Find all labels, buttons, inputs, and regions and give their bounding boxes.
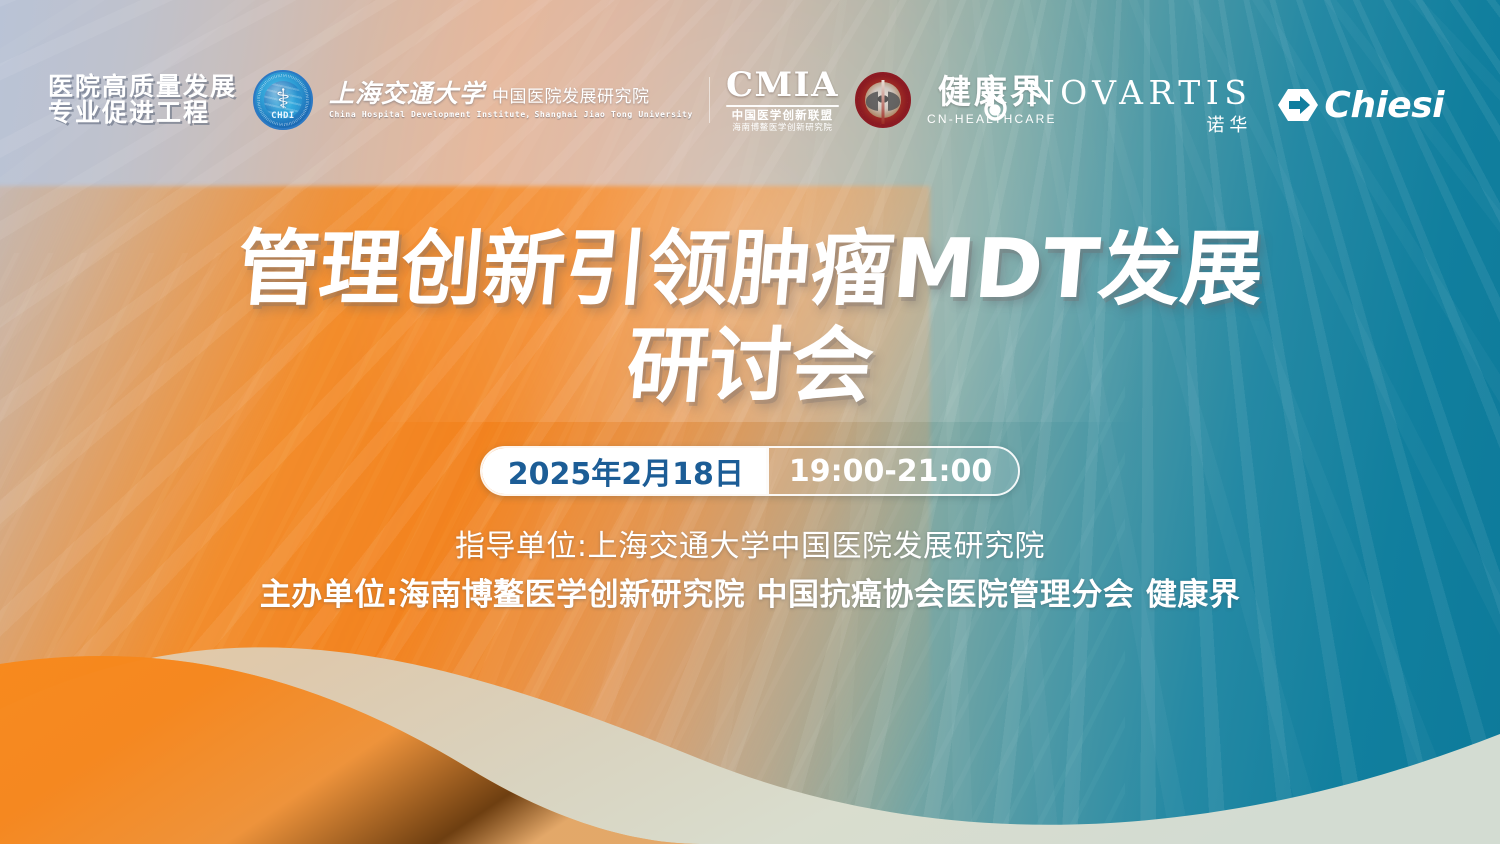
datetime-badge-wrapper: 2025年2月18日 19:00-21:00	[0, 446, 1500, 496]
pharma-logo-group: NOVARTIS 诺华 Chiesi	[978, 76, 1444, 134]
cmia-acronym: CMIA	[726, 68, 839, 104]
caduceus-icon: ⚕	[276, 86, 291, 113]
program-wordmark-logo: 医院高质量发展 专业促进工程	[48, 74, 237, 127]
host-unit-line: 主办单位:海南博鳌医学创新研究院 中国抗癌协会医院管理分会 健康界	[0, 571, 1500, 619]
cmia-institute-name: 海南博鳌医学创新研究院	[726, 123, 839, 132]
chdi-emblem-icon: ⚕ CHDI	[253, 70, 313, 130]
program-wordmark-line1: 医院高质量发展	[48, 74, 237, 100]
sjtu-english-name: China Hospital Development Institute，Sha…	[329, 111, 693, 120]
datetime-badge: 2025年2月18日 19:00-21:00	[480, 446, 1021, 496]
cmia-logo: CMIA 中国医学创新联盟 海南博鳌医学创新研究院	[726, 68, 839, 132]
chiesi-hexagon-arrow-icon	[1278, 88, 1318, 122]
organizer-logo-group: 医院高质量发展 专业促进工程 ⚕ CHDI 上海交通大学 中国医院发展研究院 C…	[48, 68, 1057, 132]
chiesi-wordmark: Chiesi	[1324, 85, 1444, 126]
cmia-rule-divider	[726, 105, 839, 107]
sponsor-logo-bar: 医院高质量发展 专业促进工程 ⚕ CHDI 上海交通大学 中国医院发展研究院 C…	[0, 72, 1500, 156]
chdi-acronym-label: CHDI	[255, 111, 311, 121]
novartis-chinese-name: 诺华	[1026, 116, 1253, 134]
caca-emblem-icon	[855, 72, 911, 128]
novartis-flame-icon	[978, 79, 1012, 123]
sjtu-university-name: 上海交通大学	[329, 80, 485, 108]
sjtu-logo: 上海交通大学 中国医院发展研究院 China Hospital Developm…	[329, 80, 693, 119]
novartis-logo: NOVARTIS 诺华	[978, 76, 1253, 134]
guidance-unit-line: 指导单位:上海交通大学中国医院发展研究院	[0, 524, 1500, 571]
caca-bird-icon	[866, 91, 900, 111]
cmia-chinese-name: 中国医学创新联盟	[726, 110, 839, 122]
event-time: 19:00-21:00	[766, 448, 1018, 494]
program-wordmark-line2: 专业促进工程	[48, 100, 237, 126]
sjtu-institute-name: 中国医院发展研究院	[492, 88, 650, 107]
background-top-glow	[270, 0, 1230, 422]
organizer-info: 指导单位:上海交通大学中国医院发展研究院 主办单位:海南博鳌医学创新研究院 中国…	[0, 524, 1500, 619]
event-date: 2025年2月18日	[482, 448, 766, 494]
chiesi-logo: Chiesi	[1278, 85, 1444, 126]
logo-divider	[709, 77, 710, 123]
event-poster: 医院高质量发展 专业促进工程 ⚕ CHDI 上海交通大学 中国医院发展研究院 C…	[0, 0, 1500, 844]
novartis-wordmark: NOVARTIS	[1026, 76, 1253, 109]
